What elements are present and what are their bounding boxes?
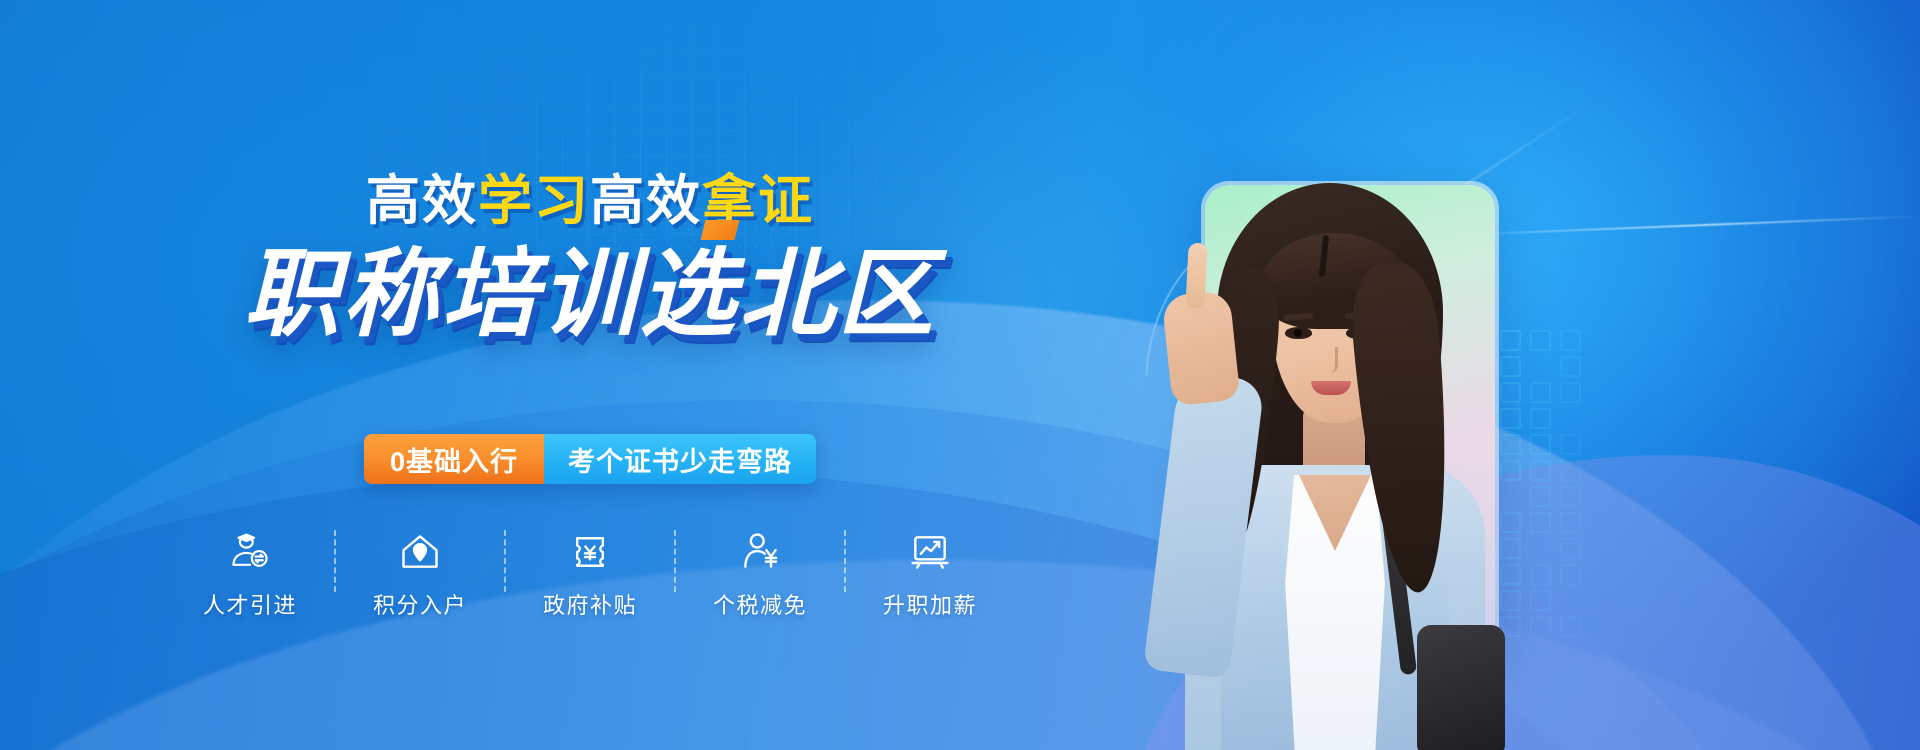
headline-accent-char: 选 — [640, 241, 739, 348]
person-yuan-icon — [738, 528, 782, 576]
feature-label: 人才引进 — [203, 588, 297, 620]
pointing-finger — [1185, 243, 1207, 310]
feature-label: 个税减免 — [713, 588, 807, 620]
headline-text-after: 北区 — [739, 241, 937, 348]
headline-text-before: 职称培训 — [244, 241, 640, 348]
house-pin-icon — [398, 528, 442, 576]
feature-divider-1 — [334, 530, 336, 592]
feature-item-talent[interactable]: 人才引进 — [183, 528, 317, 620]
tagline-badge-inner: 0基础入行 考个证书少走弯路 — [364, 434, 816, 484]
main-headline: 职称培训选北区 — [0, 216, 1180, 355]
handbag — [1417, 625, 1505, 750]
headline-accent-char-wrap: 选 — [640, 216, 739, 355]
graduate-exchange-icon — [228, 528, 272, 576]
ticket-yuan-icon — [568, 528, 612, 576]
eye-left — [1285, 327, 1312, 339]
feature-row: 人才引进 积分入户 — [0, 528, 1180, 620]
feature-label: 积分入户 — [373, 588, 467, 620]
feature-item-promotion[interactable]: 升职加薪 — [863, 528, 997, 620]
feature-item-tax[interactable]: 个税减免 — [693, 528, 827, 620]
feature-divider-3 — [674, 530, 676, 592]
promo-banner: 高效学习高效拿证 职称培训选北区 0基础入行 考个证书少走弯路 — [0, 0, 1920, 750]
feature-label: 升职加薪 — [883, 588, 977, 620]
badge-right-label: 考个证书少走弯路 — [544, 434, 816, 484]
feature-label: 政府补贴 — [543, 588, 637, 620]
feature-item-subsidy[interactable]: 政府补贴 — [523, 528, 657, 620]
feature-divider-2 — [504, 530, 506, 592]
badge-left-label: 0基础入行 — [364, 434, 544, 484]
feature-divider-4 — [844, 530, 846, 592]
woman-photo — [1125, 175, 1545, 750]
feature-item-residency[interactable]: 积分入户 — [353, 528, 487, 620]
hero-figure — [1085, 150, 1725, 750]
chart-board-icon — [908, 528, 952, 576]
nose — [1321, 347, 1338, 373]
tagline-badge: 0基础入行 考个证书少走弯路 — [0, 434, 1180, 484]
